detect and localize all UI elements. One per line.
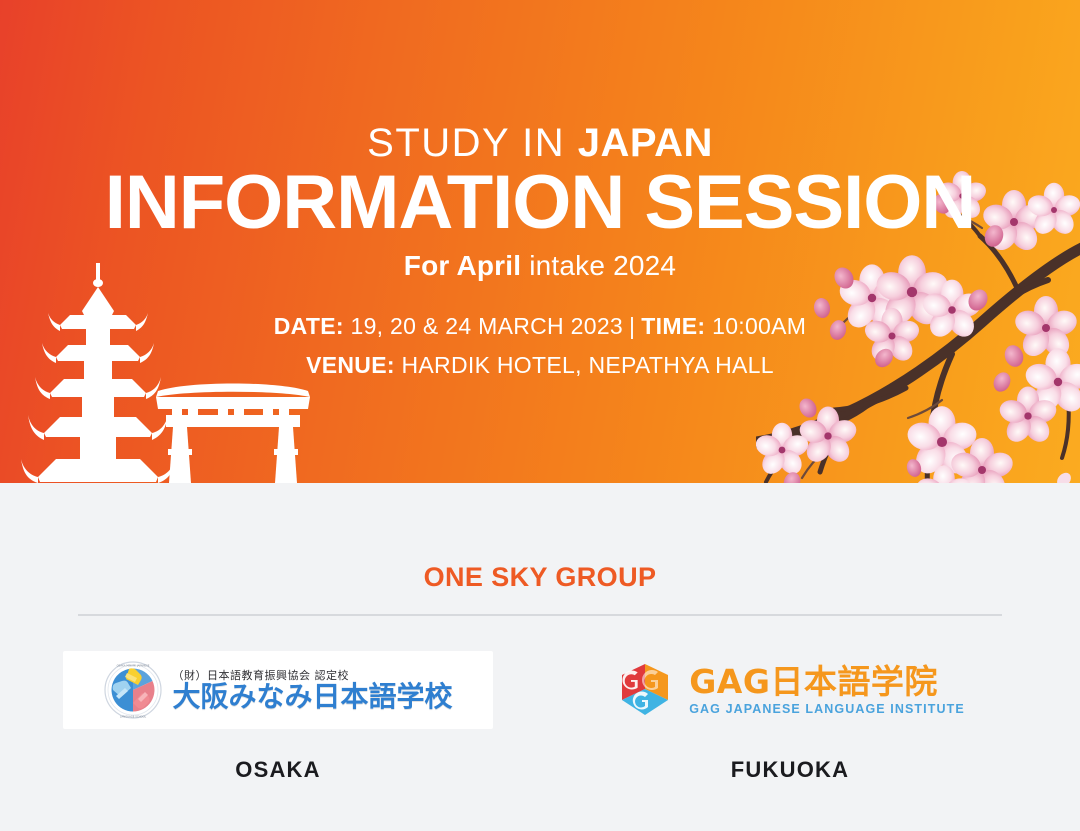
city-label-fukuoka: FUKUOKA: [560, 757, 1020, 783]
svg-text:OSAKA MINAMI JAPANESE: OSAKA MINAMI JAPANESE: [117, 664, 150, 668]
intake-for: For: [404, 250, 457, 281]
city-label-osaka: OSAKA: [48, 757, 508, 783]
intake-month: April: [456, 250, 521, 281]
three-hands-circle-emblem: OSAKA MINAMI JAPANESE LANGUAGE SCHOOL: [103, 660, 163, 720]
fukuoka-logo-plate: GAG日本語学院 GAG JAPANESE LANGUAGE INSTITUTE: [590, 651, 990, 729]
venue-label: VENUE:: [306, 352, 395, 378]
partners-section: ONE SKY GROUP: [0, 483, 1080, 831]
date-label: DATE:: [274, 313, 344, 339]
osaka-certification: （財）日本語教育振興協会 認定校: [172, 670, 452, 681]
group-name: ONE SKY GROUP: [0, 562, 1080, 593]
line-separator: |: [623, 313, 641, 339]
date-value: 19, 20 & 24 MARCH 2023: [344, 313, 623, 339]
gag-cube-logo: [615, 659, 677, 721]
blossom-cluster-lower: [756, 395, 1016, 483]
falling-petals: [844, 470, 1074, 483]
osaka-text-lockup: （財）日本語教育振興協会 認定校 大阪みなみ日本語学校: [172, 670, 452, 711]
venue-value: HARDIK HOTEL, NEPATHYA HALL: [395, 352, 774, 378]
gag-lockup: GAG日本語学院 GAG JAPANESE LANGUAGE INSTITUTE: [615, 659, 965, 721]
time-value: 10:00AM: [705, 313, 806, 339]
section-divider: [78, 614, 1002, 616]
poster: STUDY IN JAPAN INFORMATION SESSION For A…: [0, 0, 1080, 831]
osaka-lockup: OSAKA MINAMI JAPANESE LANGUAGE SCHOOL （財…: [103, 660, 452, 720]
logo-row: OSAKA MINAMI JAPANESE LANGUAGE SCHOOL （財…: [0, 651, 1080, 781]
gag-school-name: GAG日本語学院: [689, 665, 965, 698]
svg-text:LANGUAGE SCHOOL: LANGUAGE SCHOOL: [120, 715, 147, 719]
page-title: INFORMATION SESSION: [0, 163, 1080, 243]
intake-rest: intake 2024: [521, 250, 676, 281]
venue-line: VENUE: HARDIK HOTEL, NEPATHYA HALL: [0, 350, 1080, 380]
study-prefix: STUDY IN: [367, 121, 578, 165]
gag-text-lockup: GAG日本語学院 GAG JAPANESE LANGUAGE INSTITUTE: [689, 665, 965, 716]
banner-background: STUDY IN JAPAN INFORMATION SESSION For A…: [0, 0, 1080, 483]
gag-school-name-en: GAG JAPANESE LANGUAGE INSTITUTE: [689, 703, 965, 716]
date-time-line: DATE: 19, 20 & 24 MARCH 2023|TIME: 10:00…: [0, 311, 1080, 341]
time-label: TIME:: [641, 313, 705, 339]
school-fukuoka: GAG日本語学院 GAG JAPANESE LANGUAGE INSTITUTE…: [560, 651, 1020, 783]
school-osaka: OSAKA MINAMI JAPANESE LANGUAGE SCHOOL （財…: [48, 651, 508, 783]
osaka-school-name: 大阪みなみ日本語学校: [172, 683, 452, 711]
osaka-logo-plate: OSAKA MINAMI JAPANESE LANGUAGE SCHOOL （財…: [63, 651, 493, 729]
torii-gate-silhouette: [156, 384, 310, 484]
intake-line: For April intake 2024: [0, 249, 1080, 283]
japan-word: JAPAN: [578, 121, 713, 165]
